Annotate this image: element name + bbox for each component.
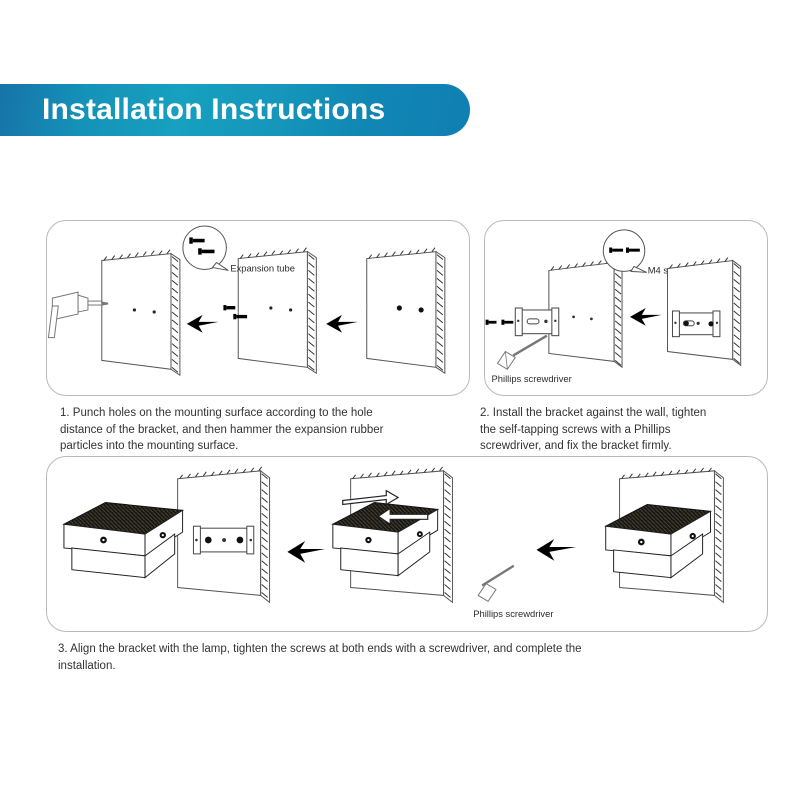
hole-mark [269,306,272,309]
expansion-tube-label: Expansion tube [230,262,295,273]
transition-arrow [326,315,358,333]
transition-arrow [187,315,219,333]
wall-surface-1 [102,250,180,376]
step-3-figure-panel: Phillips screwdriver [46,456,768,632]
transition-arrow [287,541,325,563]
assembly-step-b: Phillips screwdriver [333,467,554,619]
page-title: Installation Instructions [42,93,385,127]
hole-mark [133,308,136,311]
expansion-tube-callout: Expansion tube [183,226,295,273]
hole-mark [366,305,368,307]
step-1-caption: 1. Punch holes on the mounting surface a… [60,405,475,455]
phillips-screwdriver-label: Phillips screwdriver [492,373,572,384]
wall-surface-2 [668,258,741,366]
hole-mark [590,317,593,320]
step-2-figure-panel: Phillips screwdriver M4 screw [484,220,768,396]
mounting-bracket [515,308,559,336]
wall-surface-1 [549,260,622,368]
transition-arrow [537,539,577,561]
hole-mark [572,316,575,319]
step-2-illustration: Phillips screwdriver M4 screw [485,221,767,395]
assembly-step-c [606,468,724,602]
hole-mark [289,308,292,311]
installed-tube [419,307,424,312]
installed-tube [397,305,402,310]
mounting-bracket [672,311,719,337]
hole-mark [153,310,156,313]
wall-surface-3 [366,248,445,374]
step-2-caption: 2. Install the bracket against the wall,… [480,405,772,455]
mounting-bracket [193,526,253,554]
assembly-step-a [64,467,270,602]
header-banner: Installation Instructions [0,84,470,136]
screw-icons [486,320,514,325]
transition-arrow [630,308,662,326]
drill-icon [48,292,107,337]
step-3-illustration: Phillips screwdriver [47,457,767,631]
phillips-screwdriver-label: Phillips screwdriver [473,608,553,619]
step-1-figure-panel: Expansion tube [46,220,470,396]
step-1-illustration: Expansion tube [47,221,469,395]
step-3-caption: 3. Align the bracket with the lamp, tigh… [58,641,758,674]
phillips-screwdriver-icon: Phillips screwdriver [473,566,553,619]
wall-lamp [64,502,183,577]
